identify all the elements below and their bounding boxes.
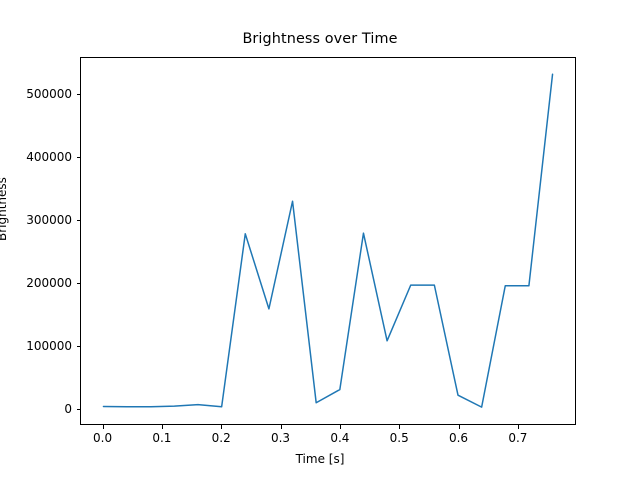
y-tick-label: 400000	[0, 150, 72, 164]
x-tick-label: 0.1	[152, 431, 171, 445]
x-tick-label: 0.0	[93, 431, 112, 445]
y-tick-label: 500000	[0, 87, 72, 101]
x-tick-mark	[281, 425, 282, 429]
x-tick-mark	[162, 425, 163, 429]
x-tick-label: 0.5	[390, 431, 409, 445]
x-tick-mark	[399, 425, 400, 429]
page-title: Brightness over Time	[0, 31, 640, 47]
x-tick-mark	[459, 425, 460, 429]
x-tick-mark	[103, 425, 104, 429]
y-tick-label: 0	[0, 402, 72, 416]
line-series-brightness	[81, 58, 575, 424]
y-tick-mark	[77, 220, 81, 221]
x-tick-label: 0.7	[508, 431, 527, 445]
x-tick-mark	[340, 425, 341, 429]
y-tick-mark	[77, 94, 81, 95]
y-tick-label: 300000	[0, 213, 72, 227]
matplotlib-figure: Brightness over Time Brightness Time [s]…	[0, 0, 640, 480]
plot-area	[80, 57, 576, 425]
x-tick-label: 0.2	[212, 431, 231, 445]
y-tick-mark	[77, 283, 81, 284]
y-tick-label: 100000	[0, 339, 72, 353]
x-tick-label: 0.3	[271, 431, 290, 445]
x-tick-mark	[518, 425, 519, 429]
y-tick-mark	[77, 409, 81, 410]
x-tick-label: 0.6	[449, 431, 468, 445]
y-tick-mark	[77, 157, 81, 158]
y-tick-mark	[77, 346, 81, 347]
x-tick-label: 0.4	[330, 431, 349, 445]
x-tick-mark	[221, 425, 222, 429]
x-axis-label: Time [s]	[0, 452, 640, 466]
y-tick-label: 200000	[0, 276, 72, 290]
y-axis-label: Brightness	[0, 177, 9, 241]
